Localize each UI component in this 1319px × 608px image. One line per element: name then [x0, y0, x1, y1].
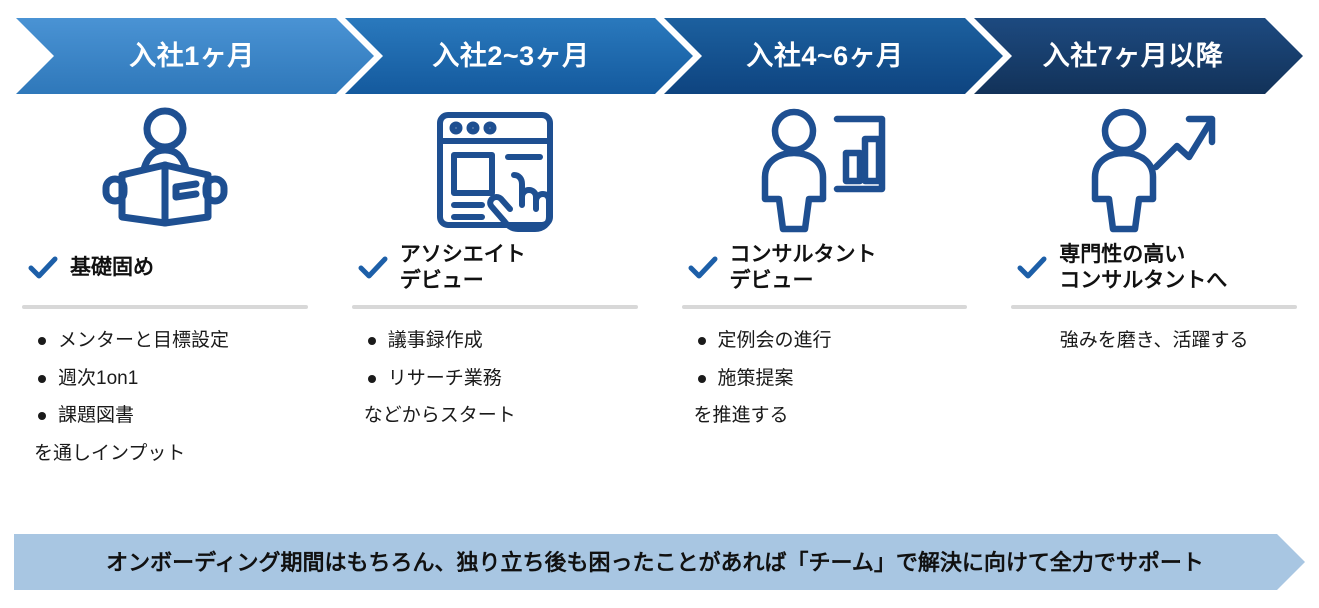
tail-line-2: などからスタート — [352, 397, 638, 435]
phase-heading-4: 専門性の高い コンサルタントへ — [1059, 242, 1227, 293]
check-icon — [1017, 256, 1047, 280]
support-banner: オンボーディング期間はもちろん、独り立ち後も困ったことがあれば「チーム」で解決に… — [0, 534, 1319, 590]
phase-column-3: コンサルタント デビュー 定例会の進行 施策提案 を推進する — [660, 100, 990, 510]
list-item: メンターと目標設定 — [34, 322, 308, 360]
divider-4 — [1011, 305, 1297, 309]
tail-line-3: を推進する — [682, 397, 968, 435]
phase-heading-1: 基礎固め — [70, 255, 154, 281]
phase-column-1: 基礎固め メンターと目標設定 週次1on1 課題図書 を通しインプット — [0, 100, 330, 510]
phase-heading-row-1: 基礎固め — [22, 240, 308, 296]
list-item: 議事録作成 — [364, 322, 638, 360]
phase-column-2: アソシエイト デビュー 議事録作成 リサーチ業務 などからスタート — [330, 100, 660, 510]
phase-heading-2: アソシエイト デビュー — [400, 242, 526, 293]
check-icon — [688, 256, 718, 280]
list-item: 課題図書 — [34, 397, 308, 435]
browser-window-click-icon — [352, 100, 638, 240]
list-item: 施策提案 — [694, 360, 968, 398]
phase-chevron-2[interactable]: 入社2~3ヶ月 — [345, 18, 693, 94]
phase-heading-3: コンサルタント デビュー — [730, 242, 877, 293]
list-item: 定例会の進行 — [694, 322, 968, 360]
divider-2 — [352, 305, 638, 309]
list-item: 週次1on1 — [34, 360, 308, 398]
tail-line-1: を通しインプット — [22, 435, 308, 473]
phase-chevron-bar: 入社1ヶ月 入社2~3ヶ月 入社4~6ヶ月 入社7ヶ月以降 — [0, 18, 1319, 94]
banner-text: オンボーディング期間はもちろん、独り立ち後も困ったことがあれば「チーム」で解決に… — [106, 550, 1204, 575]
bullet-list-2: 議事録作成 リサーチ業務 — [352, 322, 638, 397]
phase-heading-row-4: 専門性の高い コンサルタントへ — [1011, 240, 1297, 296]
phase-label-4: 入社7ヶ月以降 — [1043, 40, 1224, 71]
person-presentation-chart-icon — [682, 100, 968, 240]
phase-chevron-3[interactable]: 入社4~6ヶ月 — [664, 18, 1003, 94]
phase-label-1: 入社1ヶ月 — [129, 40, 255, 71]
plain-line-4: 強みを磨き、活躍する — [1011, 322, 1297, 356]
phase-heading-row-2: アソシエイト デビュー — [352, 240, 638, 296]
person-reading-book-icon — [22, 100, 308, 240]
list-item: リサーチ業務 — [364, 360, 638, 398]
divider-1 — [22, 305, 308, 309]
phase-chevron-4[interactable]: 入社7ヶ月以降 — [974, 18, 1303, 94]
phase-column-4: 専門性の高い コンサルタントへ 強みを磨き、活躍する — [989, 100, 1319, 510]
phase-label-2: 入社2~3ヶ月 — [432, 40, 589, 71]
check-icon — [358, 256, 388, 280]
phase-columns: 基礎固め メンターと目標設定 週次1on1 課題図書 を通しインプット — [0, 100, 1319, 510]
phase-label-3: 入社4~6ヶ月 — [746, 40, 903, 71]
person-growth-arrow-icon — [1011, 100, 1297, 240]
phase-chevron-1[interactable]: 入社1ヶ月 — [16, 18, 374, 94]
bullet-list-1: メンターと目標設定 週次1on1 課題図書 — [22, 322, 308, 435]
phase-heading-row-3: コンサルタント デビュー — [682, 240, 968, 296]
bullet-list-3: 定例会の進行 施策提案 — [682, 322, 968, 397]
check-icon — [28, 256, 58, 280]
divider-3 — [682, 305, 968, 309]
